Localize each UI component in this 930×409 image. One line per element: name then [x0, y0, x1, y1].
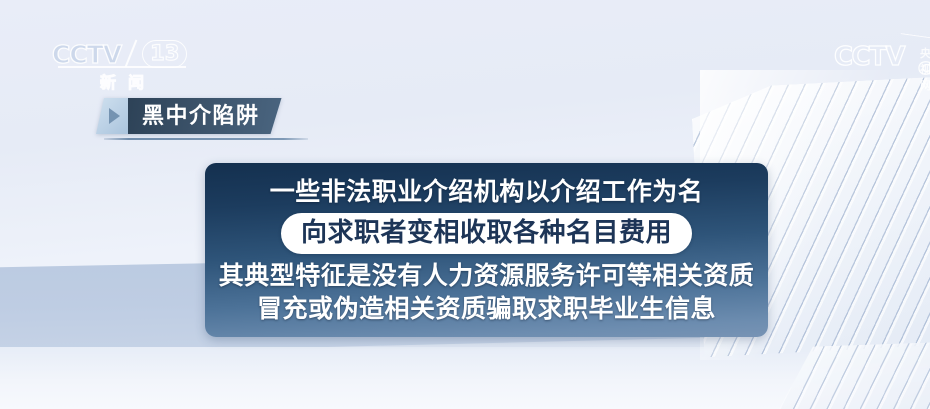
topic-banner-icon-slot: [96, 98, 128, 134]
topic-banner-title: 黑中介陷阱: [142, 105, 260, 127]
content-panel: 一些非法职业介绍机构以介绍工作为名 向求职者变相收取各种名目费用 其典型特征是没…: [205, 163, 768, 337]
cctv13-slash-icon: [125, 40, 138, 68]
topic-banner-shape: 黑中介陷阱: [96, 98, 282, 134]
cctv-com-watermark: CCTV 央视网 com: [834, 44, 904, 70]
cctv13-underline-rule: [58, 66, 186, 68]
cctv-com-domain-label: com: [918, 57, 930, 79]
topic-banner-body: 黑中介陷阱: [128, 98, 282, 134]
content-line-1: 一些非法职业介绍机构以介绍工作为名: [270, 180, 704, 205]
content-line-3: 其典型特征是没有人力资源服务许可等相关资质: [219, 264, 755, 289]
cctv13-logo-row: CCTV 13: [52, 40, 192, 68]
content-line-4: 冒充或伪造相关资质骗取求职毕业生信息: [257, 297, 716, 322]
cctv-wordmark-icon: CCTV: [52, 42, 121, 67]
cctv13-subtitle: 新闻: [52, 69, 192, 93]
content-highlight-pill: 向求职者变相收取各种名目费用: [281, 213, 692, 254]
cctv13-number-badge: 13: [142, 40, 187, 68]
play-triangle-icon: [109, 108, 120, 124]
cctv13-channel-logo: CCTV 13 新闻: [52, 40, 192, 93]
cctv-com-logo-row: CCTV: [834, 44, 904, 70]
content-highlight-text: 向求职者变相收取各种名目费用: [301, 217, 672, 247]
topic-banner: 黑中介陷阱: [96, 98, 282, 134]
broadcast-lower-third-graphic: CCTV 13 新闻 CCTV 央视网 com 黑中介陷阱 一些非法职业介绍机构…: [0, 0, 930, 409]
topic-banner-underline: [104, 138, 308, 140]
cctv-com-wordmark-icon: CCTV: [834, 44, 904, 70]
